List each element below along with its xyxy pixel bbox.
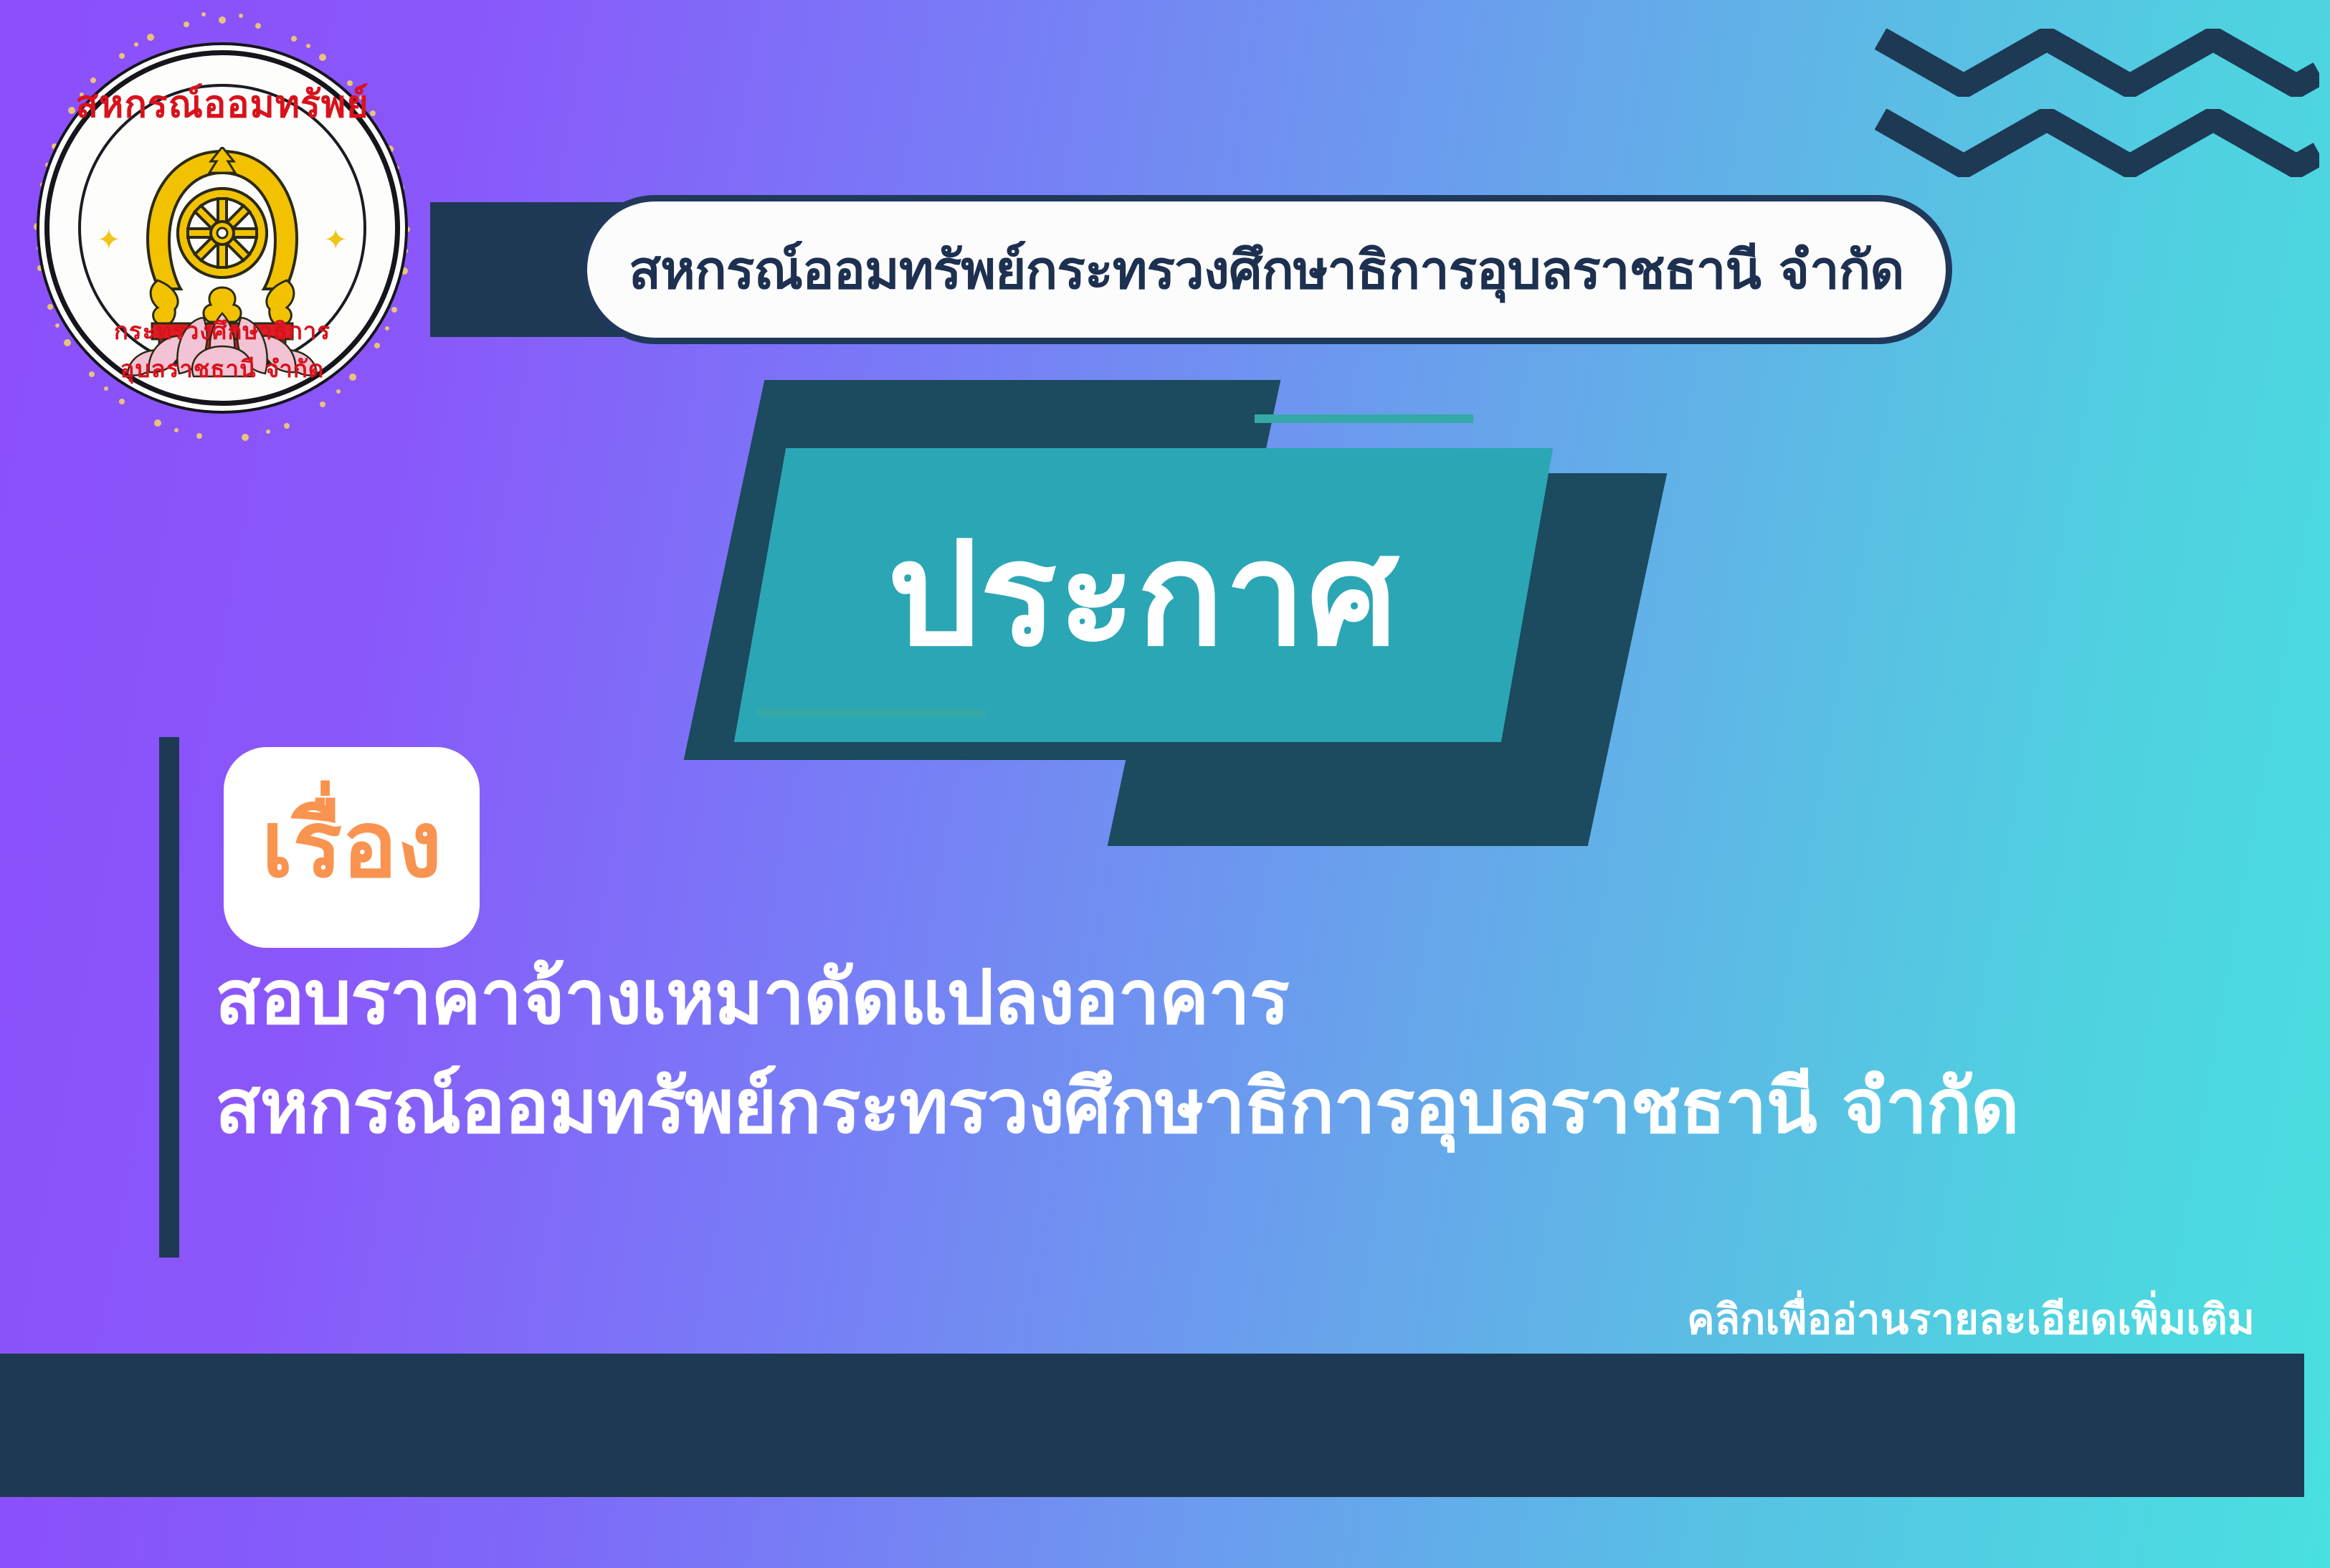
subject-badge-label: เรื่อง — [262, 799, 442, 895]
logo-bottom-text: กระทรวงศึกษาธิการอุบลราชธานี จำกัด — [49, 312, 395, 388]
zigzag-line-icon — [1875, 29, 2319, 100]
cooperative-logo: สหกรณ์ออมทรัพย์ — [7, 6, 437, 465]
organization-title-text: สหกรณ์ออมทรัพย์กระทรวงศึกษาธิการอุบลราชธ… — [629, 227, 1904, 312]
accent-line-bottom — [756, 708, 986, 717]
sparkle-star-icon-right: ✦ — [323, 226, 348, 255]
subject-badge: เรื่อง — [224, 747, 480, 948]
logo-top-text: สหกรณ์ออมทรัพย์ — [49, 74, 395, 133]
subject-line-1: สอบราคาจ้างเหมาดัดแปลงอาคาร — [215, 944, 2151, 1053]
accent-line-top — [1255, 414, 1473, 423]
organization-title-pill: สหกรณ์ออมทรัพย์กระทรวงศึกษาธิการอุบลราชธ… — [581, 195, 1952, 344]
footer-gradient-strip — [0, 1497, 2330, 1568]
subject-line-2: สหกรณ์ออมทรัพย์กระทรวงศึกษาธิการอุบลราชธ… — [215, 1053, 2151, 1161]
vertical-accent-bar — [159, 737, 179, 1258]
zigzag-line-icon-2 — [1875, 109, 2319, 180]
subject-headline: สอบราคาจ้างเหมาดัดแปลงอาคาร สหกรณ์ออมทรั… — [215, 944, 2151, 1161]
announcement-poster: สหกรณ์ออมทรัพย์ — [0, 0, 2330, 1568]
read-more-cta[interactable]: คลิกเพื่ออ่านรายละเอียดเพิ่มเติม — [1687, 1286, 2255, 1352]
footer-bar — [0, 1354, 2304, 1497]
page-title: ประกาศ — [888, 523, 1399, 667]
sparkle-star-icon-left: ✦ — [97, 226, 121, 255]
logo-disc: สหกรณ์ออมทรัพย์ — [44, 50, 400, 406]
headline-label-wrap: ประกาศ — [760, 448, 1527, 742]
